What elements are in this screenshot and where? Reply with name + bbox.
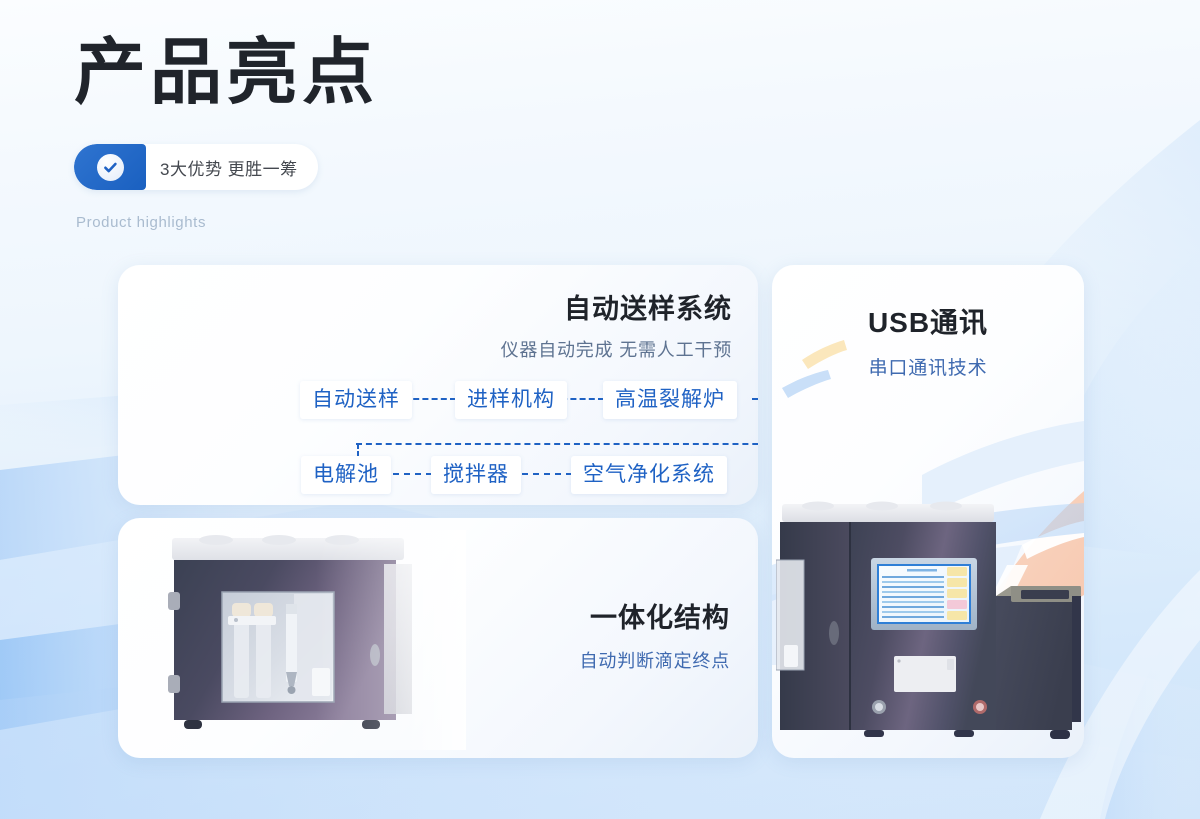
card-usb-subtitle: 串口通讯技术 bbox=[772, 353, 1084, 380]
page-header: 产品亮点 3大优势 更胜一筹 Product highlights bbox=[74, 36, 378, 108]
card-photo-heading: 一体化结构 自动判断滴定终点 bbox=[580, 596, 730, 673]
badge-label: 3大优势 更胜一筹 bbox=[146, 155, 318, 180]
card-flow-title: 自动送样系统 bbox=[501, 287, 732, 326]
flow-connector-return bbox=[356, 443, 758, 445]
card-usb-communication: USB通讯 串口通讯技术 bbox=[772, 265, 1084, 758]
flow-node-auto-sampling: 自动送样 bbox=[300, 381, 412, 419]
card-auto-sampling-system: 自动送样系统 仪器自动完成 无需人工干预 自动送样 进样机构 高温裂解炉 电解池… bbox=[118, 265, 758, 505]
status-badge: 3大优势 更胜一筹 bbox=[74, 144, 318, 190]
card-usb-heading: USB通讯 串口通讯技术 bbox=[772, 301, 1084, 380]
instrument-side-view-image bbox=[166, 530, 466, 750]
card-integrated-structure: 一体化结构 自动判断滴定终点 bbox=[118, 518, 758, 758]
card-photo-title: 一体化结构 bbox=[580, 596, 730, 635]
flow-connector-3-right bbox=[752, 398, 758, 400]
page-subtitle-en: Product highlights bbox=[76, 214, 206, 231]
flow-node-stirrer: 搅拌器 bbox=[431, 456, 521, 494]
flow-node-electrolytic-cell: 电解池 bbox=[301, 456, 391, 494]
badge-icon-container bbox=[74, 144, 146, 190]
card-usb-title: USB通讯 bbox=[772, 301, 1084, 341]
flow-node-pyrolysis-furnace: 高温裂解炉 bbox=[603, 381, 737, 419]
product-highlights-page: 产品亮点 3大优势 更胜一筹 Product highlights 自动送样系统… bbox=[0, 0, 1200, 819]
flow-connector-5-6 bbox=[522, 473, 572, 475]
card-flow-subtitle: 仪器自动完成 无需人工干预 bbox=[501, 336, 732, 362]
instrument-front-panel-image bbox=[776, 500, 1084, 758]
flow-node-injection-mechanism: 进样机构 bbox=[455, 381, 567, 419]
check-circle-icon bbox=[97, 154, 124, 181]
flow-node-air-purification-system: 空气净化系统 bbox=[571, 456, 727, 494]
page-title: 产品亮点 bbox=[74, 36, 378, 108]
card-flow-heading: 自动送样系统 仪器自动完成 无需人工干预 bbox=[501, 287, 732, 362]
card-photo-subtitle: 自动判断滴定终点 bbox=[580, 647, 730, 673]
process-flow-diagram: 自动送样 进样机构 高温裂解炉 电解池 搅拌器 空气净化系统 bbox=[300, 381, 758, 491]
